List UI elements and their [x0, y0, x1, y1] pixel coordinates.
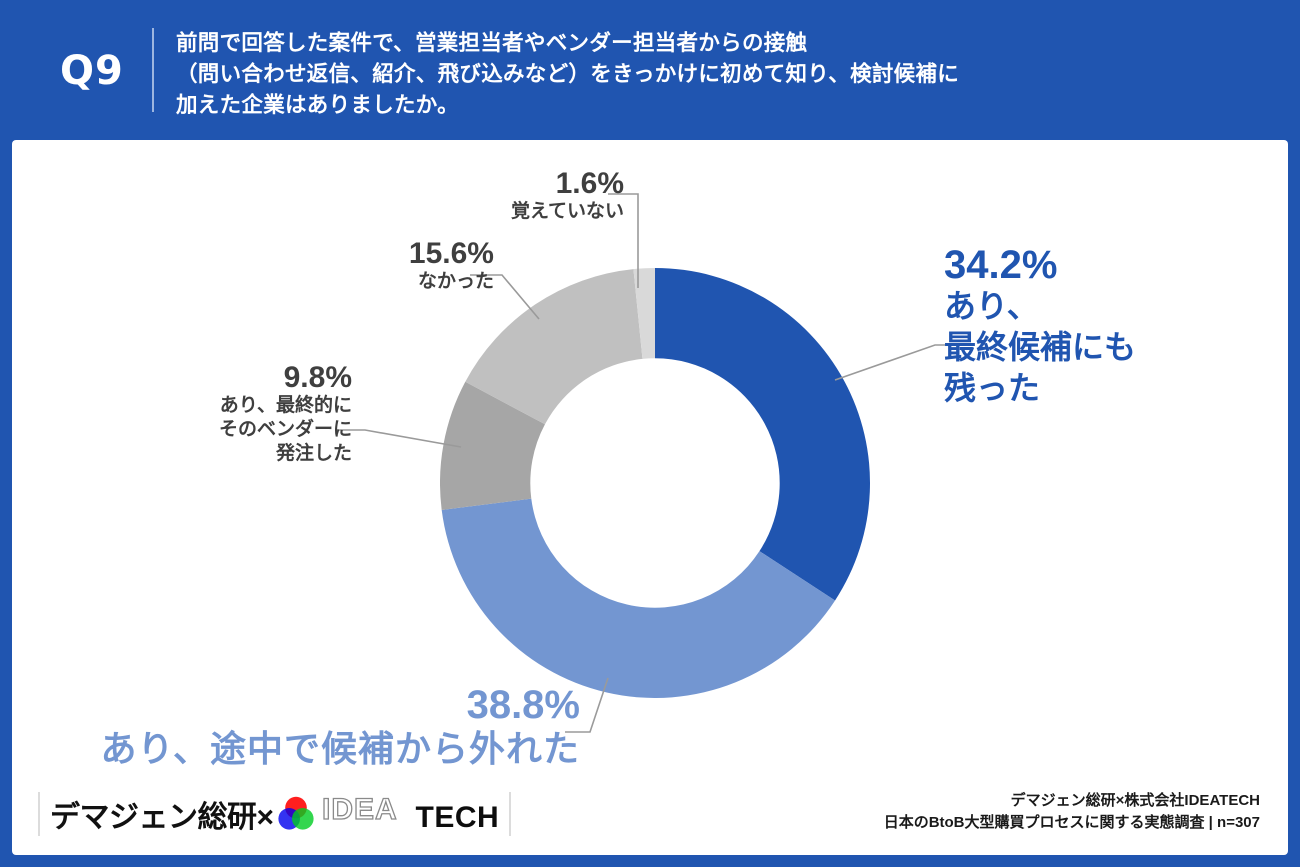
slice-desc-98-line-2: そのベンダーに — [152, 418, 352, 442]
ideatech-wordmark: IDEA TECH — [322, 793, 500, 835]
slice-desc-342-line-1: あり、 — [944, 286, 1136, 327]
footer-note: デマジェン総研×株式会社IDEATECH 日本のBtoB大型購買プロセスに関する… — [884, 790, 1260, 834]
slice-desc-388: あり、途中で候補から外れた — [22, 726, 580, 772]
slice-desc-98-line-1: あり、最終的に — [152, 394, 352, 418]
ideatech-circles-icon — [276, 794, 316, 834]
donut-chart — [440, 268, 870, 698]
slice-desc-156: なかった — [342, 270, 494, 294]
slice-percent-388: 38.8% — [22, 684, 580, 726]
slice-percent-16: 1.6% — [452, 168, 624, 200]
footer-note-line-1: デマジェン総研×株式会社IDEATECH — [884, 790, 1260, 812]
slice-percent-98: 9.8% — [152, 362, 352, 394]
question-text: 前問で回答した案件で、営業担当者やベンダー担当者からの接触 （問い合わせ返信、紹… — [176, 28, 1266, 121]
ideatech-solid-text: TECH — [416, 801, 500, 835]
footer-note-line-2: 日本のBtoB大型購買プロセスに関する実態調査 | n=307 — [884, 812, 1260, 834]
slice-label-覚えていない: 1.6% 覚えていない — [452, 168, 624, 224]
question-line-3: 加えた企業はありましたか。 — [176, 90, 1266, 121]
header-banner: Q9 前問で回答した案件で、営業担当者やベンダー担当者からの接触 （問い合わせ返… — [0, 0, 1300, 140]
slice-label-最終候補にも残った: 34.2% あり、 最終候補にも 残った — [944, 244, 1136, 409]
slice-label-なかった: 15.6% なかった — [342, 238, 494, 294]
brand-name-jp: デマジェン総研× — [50, 792, 274, 836]
brand-logo: デマジェン総研× IDEA TECH — [38, 788, 511, 840]
slice-desc-342-line-3: 残った — [944, 368, 1136, 409]
question-line-1: 前問で回答した案件で、営業担当者やベンダー担当者からの接触 — [176, 28, 1266, 59]
donut-hole — [531, 359, 779, 607]
slice-label-途中で候補から外れた: 38.8% あり、途中で候補から外れた — [22, 684, 580, 772]
card-footer: デマジェン総研× IDEA TECH デマジェン総研×株式会社IDEATECH … — [12, 780, 1288, 855]
logo-rule-left — [38, 792, 40, 836]
donut-svg — [440, 268, 870, 698]
slice-desc-342: あり、 最終候補にも 残った — [944, 286, 1136, 409]
chart-area: 1.6% 覚えていない 15.6% なかった 9.8% あり、最終的に そのベン… — [12, 140, 1288, 780]
ideatech-outline-text: IDEA — [322, 793, 418, 827]
slice-percent-156: 15.6% — [342, 238, 494, 270]
slice-desc-98-line-3: 発注した — [152, 442, 352, 466]
svg-text:IDEA: IDEA — [322, 793, 398, 826]
question-number: Q9 — [60, 48, 124, 94]
slice-desc-16: 覚えていない — [452, 200, 624, 224]
content-card: 1.6% 覚えていない 15.6% なかった 9.8% あり、最終的に そのベン… — [12, 140, 1288, 855]
slice-desc-342-line-2: 最終候補にも — [944, 327, 1136, 368]
slice-percent-342: 34.2% — [944, 244, 1136, 286]
header-divider — [152, 28, 154, 112]
logo-rule-right — [509, 792, 511, 836]
question-line-2: （問い合わせ返信、紹介、飛び込みなど）をきっかけに初めて知り、検討候補に — [176, 59, 1266, 90]
slice-desc-98: あり、最終的に そのベンダーに 発注した — [152, 394, 352, 467]
slice-label-発注した: 9.8% あり、最終的に そのベンダーに 発注した — [152, 362, 352, 466]
